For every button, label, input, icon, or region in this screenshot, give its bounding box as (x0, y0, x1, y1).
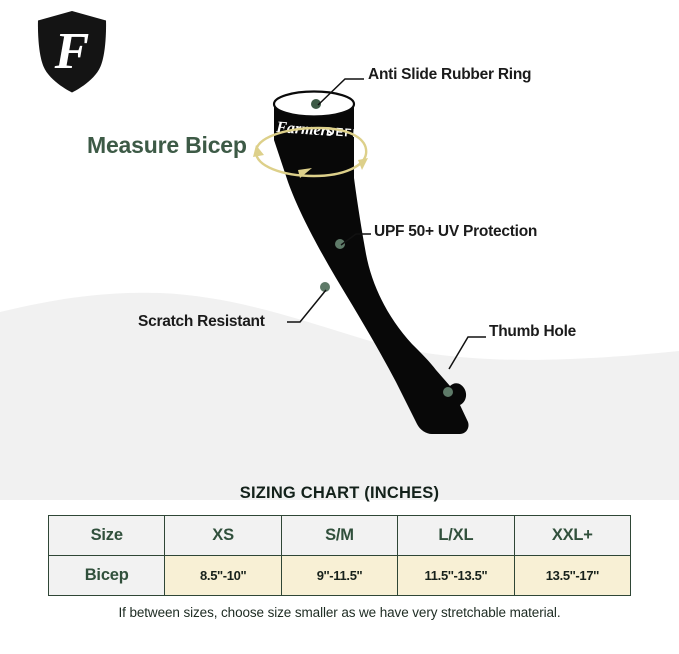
callout-anti-slide-rubber-ring: Anti Slide Rubber Ring (368, 66, 531, 84)
sleeve-silhouette (274, 92, 469, 435)
marker-dot-thumb-hole (443, 387, 453, 397)
svg-text:F: F (54, 23, 90, 80)
marker-dot-scratch (320, 282, 330, 292)
sizing-infographic: F Farmers DEFENSE (0, 0, 679, 654)
cell-bicep-xs: 8.5''-10'' (165, 556, 281, 596)
measure-bicep-heading: Measure Bicep (87, 132, 247, 159)
column-header-xxl: XXL+ (514, 516, 630, 556)
arm-sleeve-illustration: Farmers DEFENSE (236, 82, 496, 442)
table-header-row: Size XS S/M L/XL XXL+ (49, 516, 631, 556)
column-header-xs: XS (165, 516, 281, 556)
table-row: Bicep 8.5''-10'' 9''-11.5'' 11.5''-13.5'… (49, 556, 631, 596)
cell-bicep-lxl: 11.5''-13.5'' (398, 556, 514, 596)
sizing-chart-table: Size XS S/M L/XL XXL+ Bicep 8.5''-10'' 9… (48, 515, 631, 596)
callout-upf-50-uv-protection: UPF 50+ UV Protection (374, 223, 537, 241)
column-header-sm: S/M (281, 516, 397, 556)
marker-dot-anti-slide (311, 99, 321, 109)
cell-bicep-sm: 9''-11.5'' (281, 556, 397, 596)
callout-thumb-hole: Thumb Hole (489, 323, 576, 341)
callout-scratch-resistant: Scratch Resistant (138, 313, 265, 331)
sizing-chart-note: If between sizes, choose size smaller as… (0, 605, 679, 620)
marker-dot-upf (335, 239, 345, 249)
row-label-bicep: Bicep (49, 556, 165, 596)
column-header-lxl: L/XL (398, 516, 514, 556)
sizing-chart-title: SIZING CHART (INCHES) (0, 484, 679, 503)
shield-f-logo-icon: F (30, 6, 114, 98)
sizing-chart-section: SIZING CHART (INCHES) Size XS S/M L/XL X… (0, 484, 679, 620)
column-header-size: Size (49, 516, 165, 556)
cell-bicep-xxl: 13.5''-17'' (514, 556, 630, 596)
